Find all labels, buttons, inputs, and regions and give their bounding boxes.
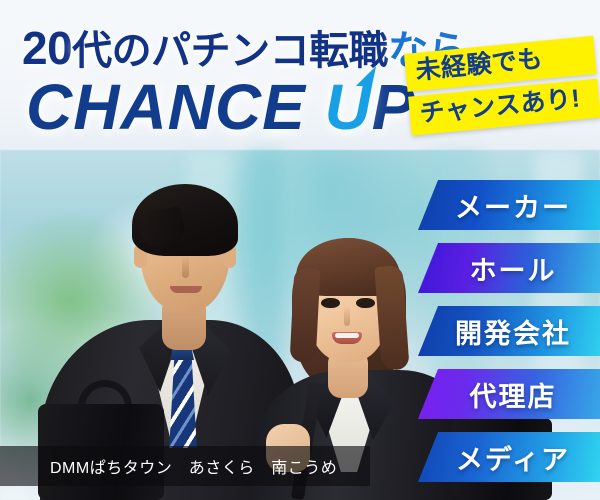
category-label: メディア [448,438,570,477]
category-label: メーカー [447,186,571,225]
category-bar-hall[interactable]: ホール [418,243,600,293]
category-label: 代理店 [462,375,557,414]
advertisement-banner[interactable]: 20代のパチンコ転職なら CHANCE UP 未経験でも チャンスあり! メーカ… [0,0,600,500]
category-bar-media[interactable]: メディア [418,432,600,482]
category-bar-agency[interactable]: 代理店 [418,369,600,419]
category-bar-list: メーカー ホール 開発会社 代理店 メディア [0,0,600,500]
category-bar-development-company[interactable]: 開発会社 [418,306,600,356]
caption-text: DMMぱちタウン あさくら 南こうめ [0,454,337,478]
caption-bar: DMMぱちタウン あさくら 南こうめ [0,446,370,486]
category-label: ホール [462,249,557,288]
category-label: 開発会社 [447,312,571,351]
category-bar-maker[interactable]: メーカー [418,180,600,230]
